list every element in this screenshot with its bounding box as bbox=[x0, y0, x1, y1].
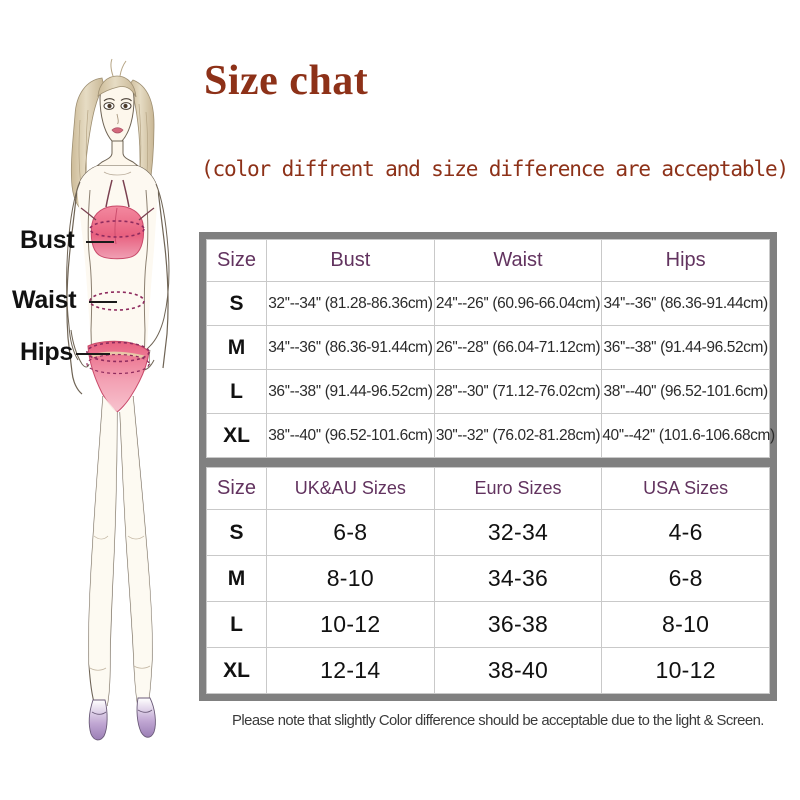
cell-euro: 36-38 bbox=[434, 602, 602, 648]
table-header-row: Size Bust Waist Hips bbox=[207, 240, 770, 282]
cell-euro: 38-40 bbox=[434, 648, 602, 694]
hips-label: Hips bbox=[20, 338, 73, 367]
cell-usa: 8-10 bbox=[602, 602, 770, 648]
table-row: S 6-8 32-34 4-6 bbox=[207, 510, 770, 556]
cell-size: L bbox=[207, 370, 267, 414]
cell-size: XL bbox=[207, 414, 267, 458]
cell-euro: 34-36 bbox=[434, 556, 602, 602]
cell-size: L bbox=[207, 602, 267, 648]
table-row: M 34''--36'' (86.36-91.44cm) 26''--28'' … bbox=[207, 326, 770, 370]
table-divider bbox=[206, 458, 770, 467]
header-bust: Bust bbox=[267, 240, 435, 282]
face bbox=[98, 59, 136, 143]
cell-usa: 10-12 bbox=[602, 648, 770, 694]
table-row: L 10-12 36-38 8-10 bbox=[207, 602, 770, 648]
cell-usa: 6-8 bbox=[602, 556, 770, 602]
cell-hips: 34''--36'' (86.36-91.44cm) bbox=[602, 282, 770, 326]
model-illustration: Bust Waist Hips bbox=[0, 0, 200, 800]
cell-waist: 30''--32'' (76.02-81.28cm) bbox=[434, 414, 602, 458]
table-header-row: Size UK&AU Sizes Euro Sizes USA Sizes bbox=[207, 468, 770, 510]
waist-label: Waist bbox=[12, 286, 76, 315]
measurements-table: Size Bust Waist Hips S 32''--34'' (81.28… bbox=[206, 239, 770, 458]
bust-leader-line bbox=[86, 241, 114, 243]
cell-size: M bbox=[207, 556, 267, 602]
shoes bbox=[89, 698, 155, 740]
cell-uk-au: 8-10 bbox=[267, 556, 435, 602]
legs bbox=[89, 396, 152, 706]
table-row: XL 38''--40'' (96.52-101.6cm) 30''--32''… bbox=[207, 414, 770, 458]
cell-usa: 4-6 bbox=[602, 510, 770, 556]
cell-bust: 32''--34'' (81.28-86.36cm) bbox=[267, 282, 435, 326]
header-hips: Hips bbox=[602, 240, 770, 282]
header-euro-sizes: Euro Sizes bbox=[434, 468, 602, 510]
table-row: S 32''--34'' (81.28-86.36cm) 24''--26'' … bbox=[207, 282, 770, 326]
page-subtitle: (color diffrent and size difference are … bbox=[201, 157, 769, 182]
header-uk-au-sizes: UK&AU Sizes bbox=[267, 468, 435, 510]
conversion-table: Size UK&AU Sizes Euro Sizes USA Sizes S … bbox=[206, 467, 770, 694]
cell-hips: 38''--40'' (96.52-101.6cm) bbox=[602, 370, 770, 414]
cell-size: S bbox=[207, 510, 267, 556]
cell-bust: 38''--40'' (96.52-101.6cm) bbox=[267, 414, 435, 458]
bust-label: Bust bbox=[20, 226, 74, 255]
cell-waist: 28''--30'' (71.12-76.02cm) bbox=[434, 370, 602, 414]
page-title: Size chat bbox=[204, 60, 368, 102]
cell-euro: 32-34 bbox=[434, 510, 602, 556]
cell-hips: 40''--42'' (101.6-106.68cm) bbox=[602, 414, 770, 458]
header-size: Size bbox=[207, 240, 267, 282]
cell-hips: 36''--38'' (91.44-96.52cm) bbox=[602, 326, 770, 370]
cell-bust: 34''--36'' (86.36-91.44cm) bbox=[267, 326, 435, 370]
color-difference-note: Please note that slightly Color differen… bbox=[232, 712, 772, 729]
header-size: Size bbox=[207, 468, 267, 510]
fashion-figure-sketch bbox=[0, 0, 200, 800]
cell-size: M bbox=[207, 326, 267, 370]
cell-bust: 36''--38'' (91.44-96.52cm) bbox=[267, 370, 435, 414]
cell-size: XL bbox=[207, 648, 267, 694]
header-waist: Waist bbox=[434, 240, 602, 282]
header-usa-sizes: USA Sizes bbox=[602, 468, 770, 510]
bikini-bottom bbox=[88, 341, 149, 412]
hips-leader-line bbox=[76, 353, 110, 355]
waist-leader-line bbox=[89, 301, 117, 303]
cell-waist: 26''--28'' (66.04-71.12cm) bbox=[434, 326, 602, 370]
cell-waist: 24''--26'' (60.96-66.04cm) bbox=[434, 282, 602, 326]
cell-uk-au: 10-12 bbox=[267, 602, 435, 648]
cell-size: S bbox=[207, 282, 267, 326]
cell-uk-au: 6-8 bbox=[267, 510, 435, 556]
table-row: L 36''--38'' (91.44-96.52cm) 28''--30'' … bbox=[207, 370, 770, 414]
size-tables-container: Size Bust Waist Hips S 32''--34'' (81.28… bbox=[199, 232, 777, 701]
table-row: XL 12-14 38-40 10-12 bbox=[207, 648, 770, 694]
cell-uk-au: 12-14 bbox=[267, 648, 435, 694]
table-row: M 8-10 34-36 6-8 bbox=[207, 556, 770, 602]
